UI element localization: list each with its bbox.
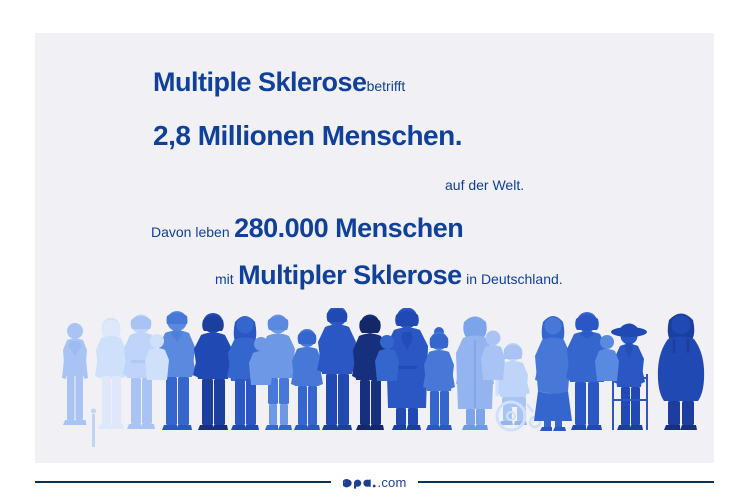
headline-line-1: Multiple Sklerosebetrifft: [153, 69, 405, 96]
headline-line-5: mit Multipler Sklerose in Deutschland.: [215, 262, 563, 289]
headline-line-4-bold: 280.000 Menschen: [234, 213, 463, 243]
brand-logo[interactable]: .com: [331, 472, 419, 492]
person-dress: [534, 316, 572, 431]
headline-line-1-regular: betrifft: [367, 78, 406, 94]
headline-line-2: 2,8 Millionen Menschen.: [153, 122, 462, 150]
headline-line-4-regular-before: Davon leben: [151, 224, 230, 240]
crowd-illustration: [35, 308, 714, 458]
headline-line-3: auf der Welt.: [445, 178, 524, 194]
headline-line-4: Davon leben 280.000 Menschen: [151, 215, 463, 242]
person-overalls: [658, 314, 704, 431]
person-child: [291, 329, 323, 430]
headline-line-3-regular: auf der Welt.: [445, 177, 524, 193]
headline-line-2-bold: 2,8 Millionen Menschen.: [153, 120, 462, 151]
headline-line-5-regular-before: mit: [215, 271, 234, 287]
epa-logo-icon: [343, 476, 377, 489]
infographic-card: Multiple Sklerosebetrifft 2,8 Millionen …: [35, 33, 714, 463]
person-tall-tee: [317, 308, 357, 430]
person-bun: [423, 327, 455, 430]
headline-line-1-bold: Multiple Sklerose: [153, 67, 367, 97]
person-cane-left: [62, 323, 96, 447]
headline-line-5-regular-after: in Deutschland.: [466, 271, 563, 287]
headline-block: Multiple Sklerosebetrifft 2,8 Millionen …: [35, 33, 714, 303]
person-light-hoodie: [95, 318, 127, 429]
footer: .com: [35, 481, 714, 500]
headline-line-5-bold: Multipler Sklerose: [238, 260, 462, 290]
crowd-illustration-svg: [35, 308, 714, 458]
person-dark-jacket: [193, 313, 233, 430]
brand-logo-text: .com: [378, 475, 407, 490]
